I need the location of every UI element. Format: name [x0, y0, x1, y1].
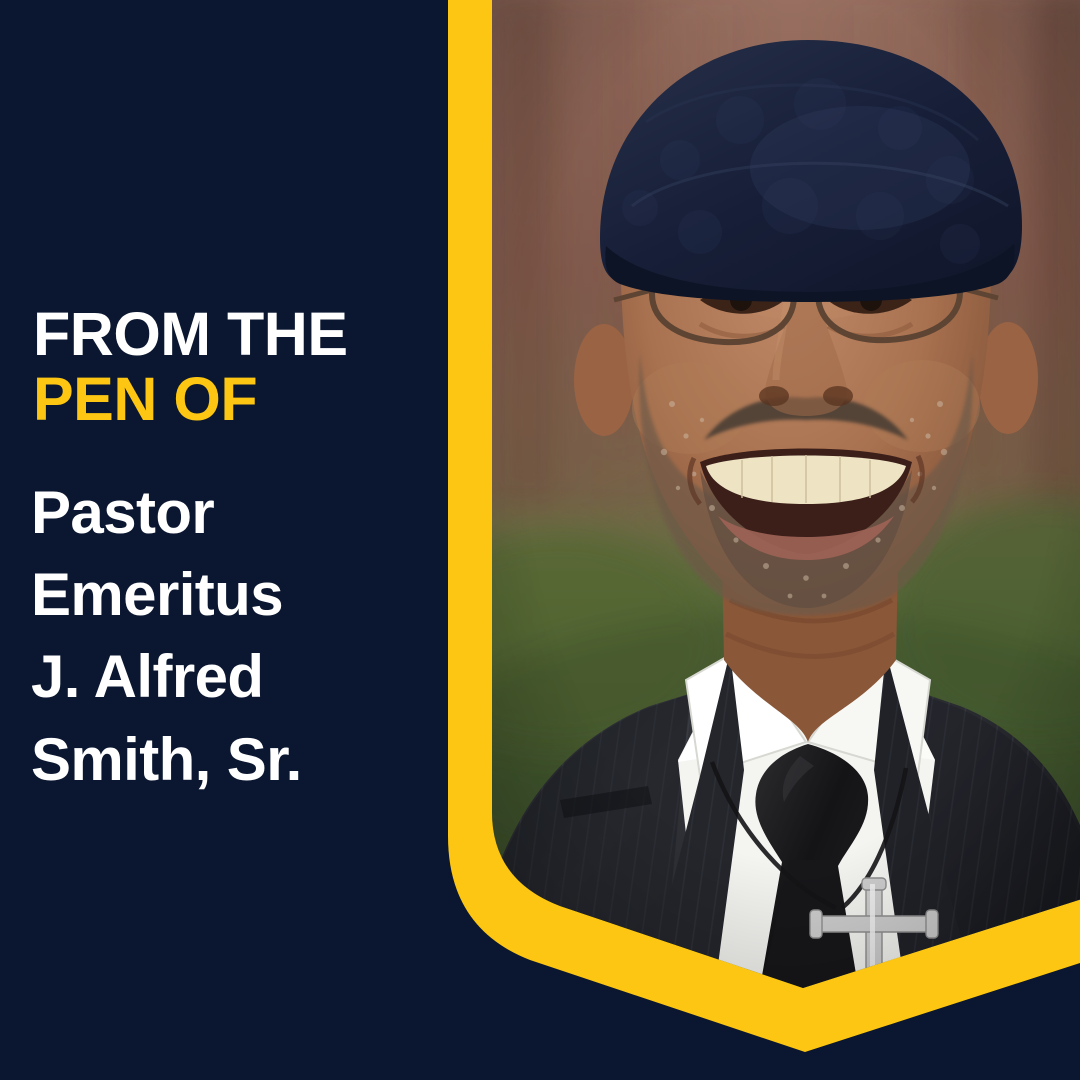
headline-line-2: PEN OF	[33, 365, 453, 433]
name-block: Pastor Emeritus J. Alfred Smith, Sr.	[31, 472, 461, 801]
name-line-1: Pastor	[31, 472, 461, 554]
headline-line-1: FROM THE	[33, 305, 453, 365]
headline-block: FROM THE PEN OF	[33, 305, 453, 433]
poster-canvas: FROM THE PEN OF Pastor Emeritus J. Alfre…	[0, 0, 1080, 1080]
name-line-4: Smith, Sr.	[31, 719, 461, 801]
name-line-3: J. Alfred	[31, 636, 461, 718]
text-panel: FROM THE PEN OF Pastor Emeritus J. Alfre…	[0, 0, 450, 1080]
name-line-2: Emeritus	[31, 554, 461, 636]
